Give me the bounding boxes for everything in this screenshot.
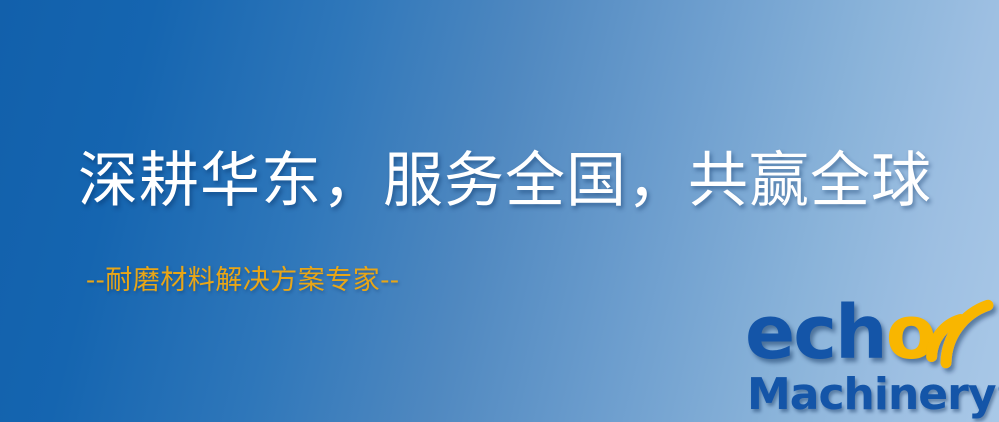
echo-machinery-logo[interactable]: echo Machinery® <box>745 296 999 422</box>
signal-wave-icon <box>915 294 999 368</box>
banner-headline: 深耕华东，服务全国，共赢全球 <box>78 151 932 211</box>
logo-subword: Machinery® <box>747 368 999 417</box>
banner-subtitle: --耐磨材料解决方案专家-- <box>86 267 400 294</box>
logo-wordmark: echo <box>745 296 935 370</box>
logo-wordmark-prefix: ech <box>745 290 886 376</box>
promo-banner: 深耕华东，服务全国，共赢全球 --耐磨材料解决方案专家-- echo Machi… <box>0 0 999 422</box>
logo-subword-text: Machinery <box>747 369 996 420</box>
registered-trademark-icon: ® <box>996 377 999 403</box>
